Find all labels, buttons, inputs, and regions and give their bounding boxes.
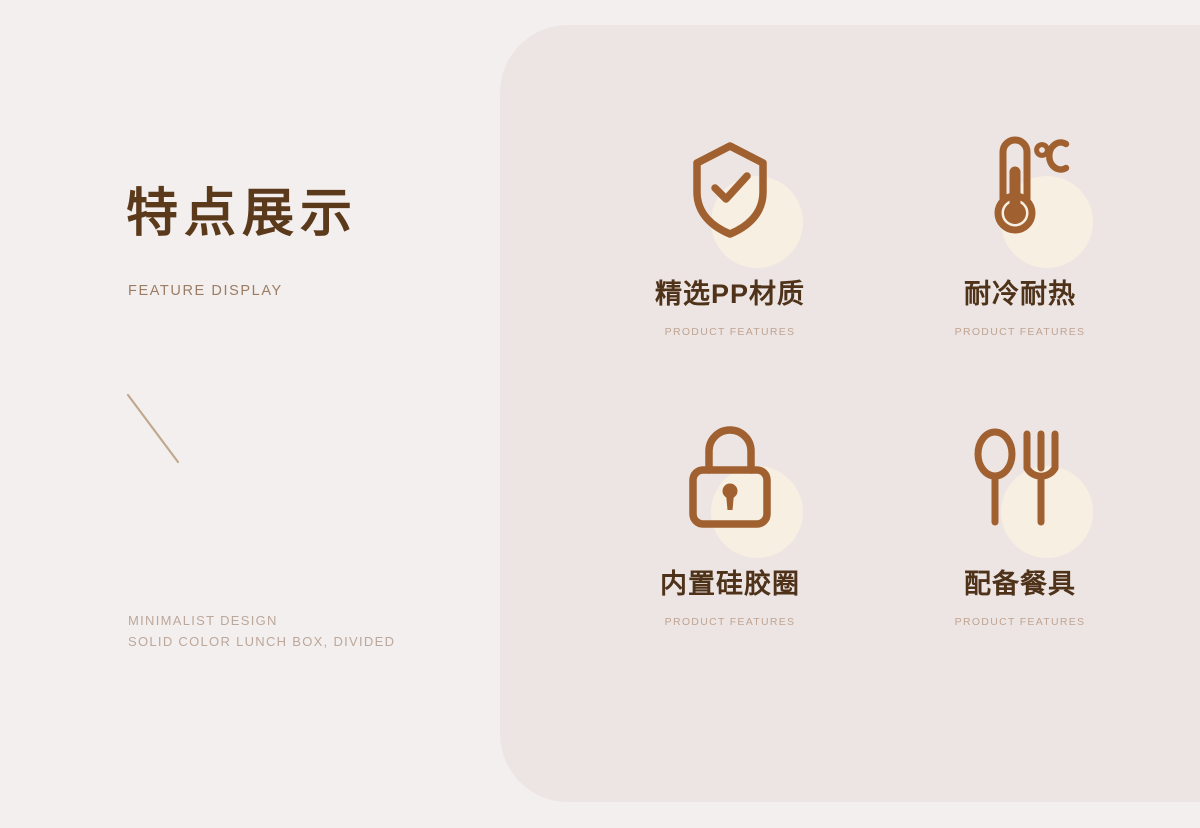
feature-display-page: 特点展示 FEATURE DISPLAY MINIMALIST DESIGN S… bbox=[0, 0, 1200, 828]
shield-check-icon bbox=[675, 128, 785, 248]
feature-subtitle: PRODUCT FEATURES bbox=[600, 326, 860, 338]
feature-card-temperature-resistant[interactable]: 耐冷耐热 PRODUCT FEATURES bbox=[890, 120, 1150, 338]
page-subtitle: FEATURE DISPLAY bbox=[128, 283, 283, 299]
caption-block: MINIMALIST DESIGN SOLID COLOR LUNCH BOX,… bbox=[128, 610, 395, 653]
feature-title: 耐冷耐热 bbox=[890, 278, 1150, 310]
feature-card-cutlery-included[interactable]: 配备餐具 PRODUCT FEATURES bbox=[890, 410, 1150, 628]
spoon-fork-cutlery-icon bbox=[965, 418, 1075, 538]
left-intro-column: 特点展示 FEATURE DISPLAY MINIMALIST DESIGN S… bbox=[0, 0, 500, 828]
feature-subtitle: PRODUCT FEATURES bbox=[890, 326, 1150, 338]
feature-card-pp-material[interactable]: 精选PP材质 PRODUCT FEATURES bbox=[600, 120, 860, 338]
caption-line-2: SOLID COLOR LUNCH BOX, DIVIDED bbox=[128, 631, 395, 652]
icon-container bbox=[655, 410, 805, 560]
icon-container bbox=[945, 120, 1095, 270]
feature-title: 配备餐具 bbox=[890, 568, 1150, 600]
feature-title: 精选PP材质 bbox=[600, 278, 860, 310]
feature-card-silicone-ring[interactable]: 内置硅胶圈 PRODUCT FEATURES bbox=[600, 410, 860, 628]
icon-container bbox=[655, 120, 805, 270]
caption-line-1: MINIMALIST DESIGN bbox=[128, 610, 395, 631]
feature-subtitle: PRODUCT FEATURES bbox=[600, 616, 860, 628]
feature-grid: 精选PP材质 PRODUCT FEATURES 耐冷耐热 PROD bbox=[560, 120, 1160, 720]
thermometer-celsius-icon bbox=[965, 128, 1075, 248]
page-title: 特点展示 bbox=[126, 186, 358, 243]
feature-title: 内置硅胶圈 bbox=[600, 568, 860, 600]
diagonal-line-icon bbox=[120, 385, 190, 475]
feature-subtitle: PRODUCT FEATURES bbox=[890, 616, 1150, 628]
padlock-icon bbox=[675, 418, 785, 538]
icon-container bbox=[945, 410, 1095, 560]
